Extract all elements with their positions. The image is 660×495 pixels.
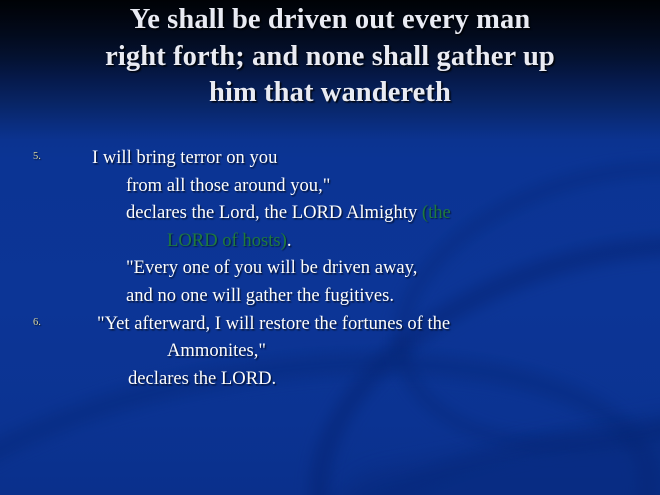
body-text-highlight-segment: (the (422, 202, 451, 223)
slide-title-line-2: right forth; and none shall gather up (16, 39, 644, 76)
body-line-text: I will bring terror on you (0, 144, 277, 172)
body-line-text: Ammonites," (0, 337, 266, 365)
body-list-line: 5.I will bring terror on you (0, 144, 660, 172)
body-list-line: LORD of hosts). (0, 227, 660, 255)
slide-title-line-1: Ye shall be driven out every man (16, 2, 644, 39)
body-list-line: 6."Yet afterward, I will restore the for… (0, 310, 660, 338)
slide-body-list: 5.I will bring terror on youfrom all tho… (0, 144, 660, 392)
slide-title: Ye shall be driven out every man right f… (16, 2, 644, 112)
body-text-segment: declares the Lord, the LORD Almighty (126, 202, 422, 223)
body-line-text: "Yet afterward, I will restore the fortu… (0, 310, 450, 338)
body-text-segment: "Yet afterward, I will restore the fortu… (97, 313, 450, 334)
body-text-segment: and no one will gather the fugitives. (126, 285, 394, 306)
body-line-text: from all those around you," (0, 172, 330, 200)
slide-title-line-3: him that wandereth (16, 75, 644, 112)
body-text-segment: declares the LORD. (128, 368, 276, 389)
body-text-segment: from all those around you," (126, 175, 330, 196)
body-text-segment: "Every one of you will be driven away, (126, 257, 417, 278)
body-line-text: declares the LORD. (0, 365, 276, 393)
body-list-line: declares the LORD. (0, 365, 660, 393)
body-line-text: LORD of hosts). (0, 227, 291, 255)
body-list-line: Ammonites," (0, 337, 660, 365)
list-item-marker: 6. (33, 314, 41, 332)
body-text-segment: Ammonites," (167, 340, 266, 361)
body-text-highlight-segment: LORD of hosts) (167, 230, 287, 251)
list-item-marker: 5. (33, 148, 41, 166)
body-text-segment: I will bring terror on you (92, 147, 277, 168)
body-list-line: and no one will gather the fugitives. (0, 282, 660, 310)
body-line-text: and no one will gather the fugitives. (0, 282, 394, 310)
body-list-line: "Every one of you will be driven away, (0, 254, 660, 282)
body-list-line: from all those around you," (0, 172, 660, 200)
body-list-line: declares the Lord, the LORD Almighty (th… (0, 199, 660, 227)
body-text-segment: . (287, 230, 292, 251)
body-line-text: "Every one of you will be driven away, (0, 254, 417, 282)
body-line-text: declares the Lord, the LORD Almighty (th… (0, 199, 451, 227)
presentation-slide: Ye shall be driven out every man right f… (0, 0, 660, 495)
